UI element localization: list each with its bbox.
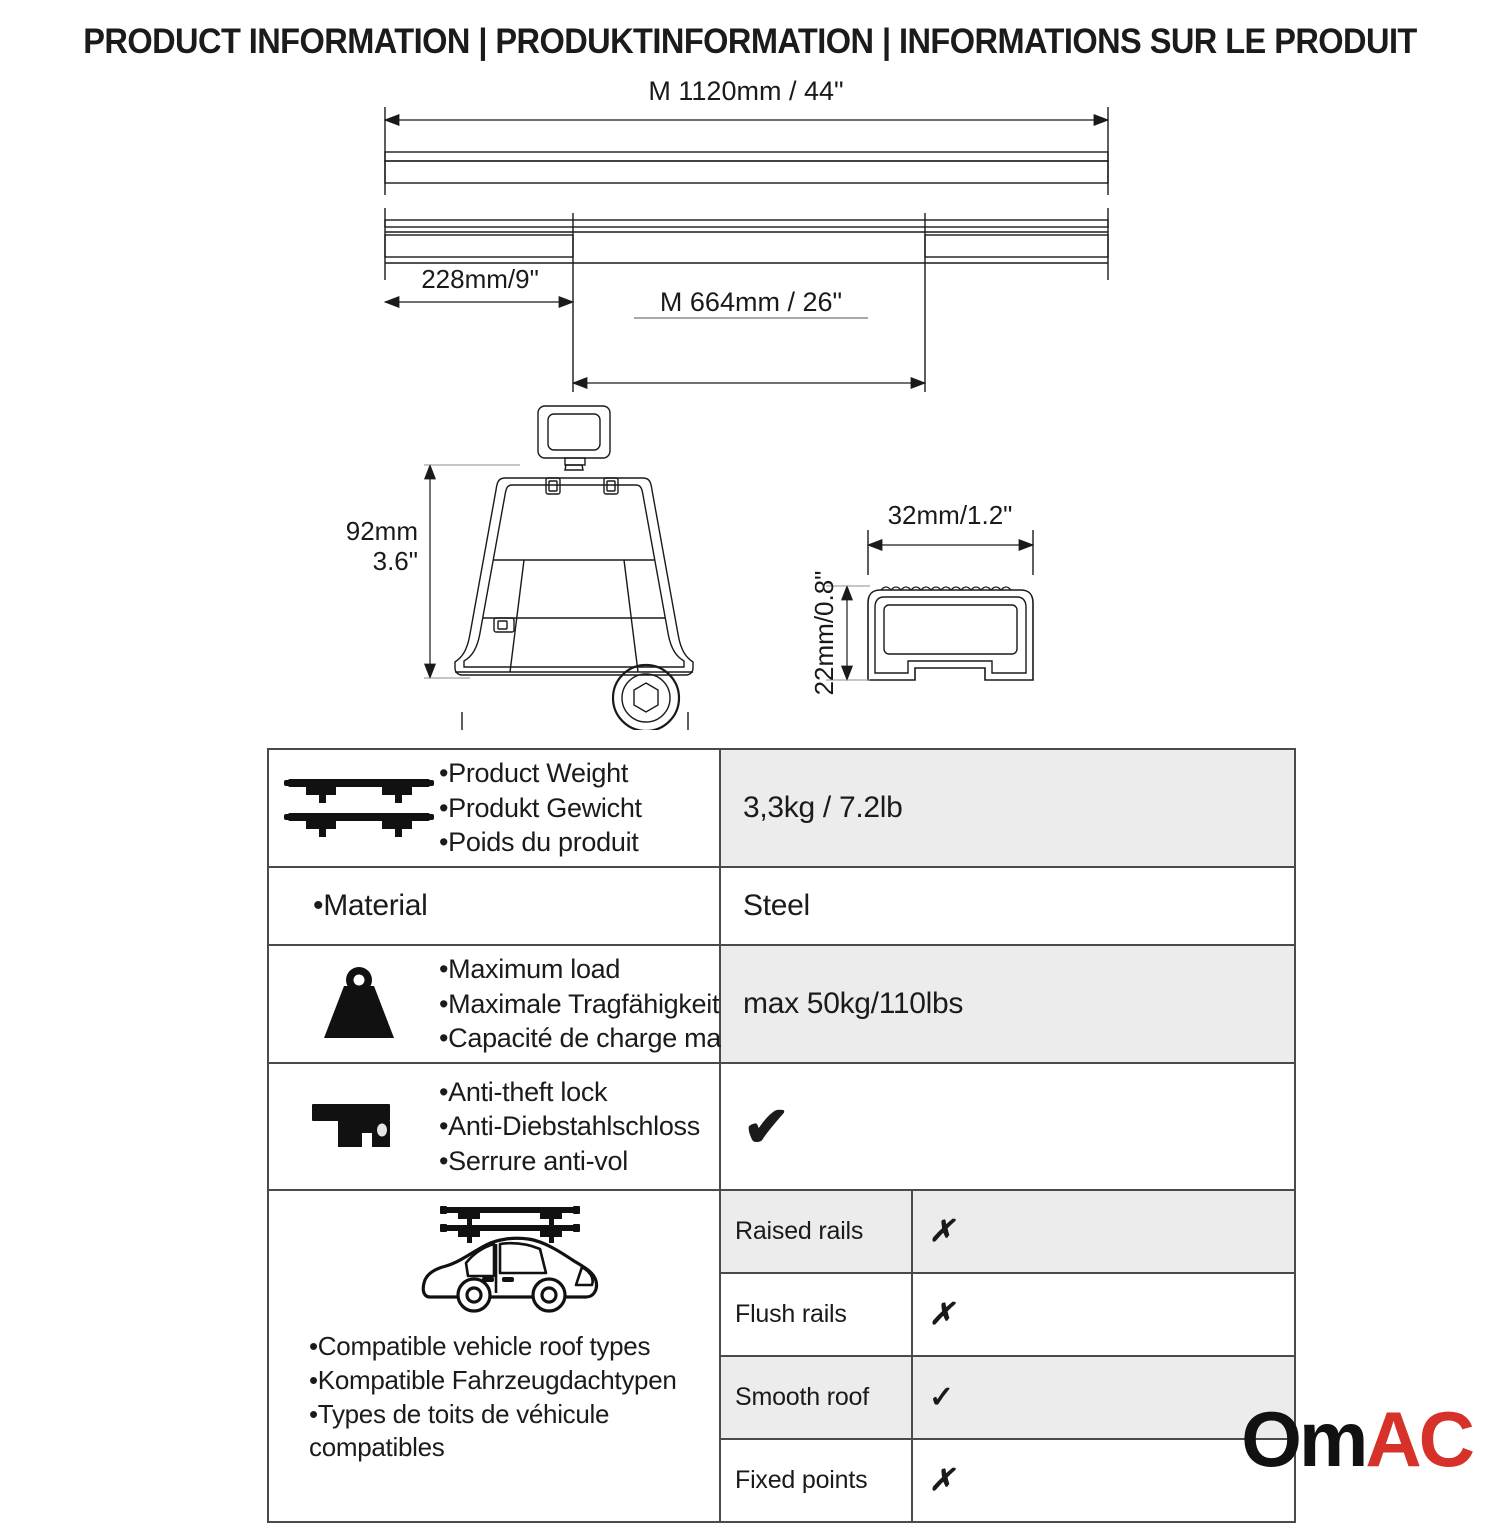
row-label-text: •Anti-theft lock •Anti-Diebstahlschloss … — [439, 1075, 700, 1179]
label-line: •Serrure anti-vol — [439, 1144, 700, 1179]
check-mark-icon: ✔ — [743, 1099, 790, 1155]
roof-option-mark: ✗ — [913, 1191, 1294, 1272]
dim-profile-height: 22mm/0.8" — [809, 571, 839, 696]
row-label-cell: •Product Weight •Produkt Gewicht •Poids … — [269, 750, 721, 866]
table-row: •Anti-theft lock •Anti-Diebstahlschloss … — [269, 1064, 1294, 1191]
weight-icon — [279, 964, 439, 1044]
material-value: Steel — [721, 868, 1294, 944]
row-label-cell: •Anti-theft lock •Anti-Diebstahlschloss … — [269, 1064, 721, 1189]
label-line: •Produkt Gewicht — [439, 791, 642, 826]
roof-option-row: Smooth roof ✓ — [721, 1357, 1294, 1440]
dim-profile-width: 32mm/1.2" — [888, 500, 1013, 530]
label-line: •Poids du produit — [439, 825, 642, 860]
dim-spread: M 664mm / 26" — [660, 287, 842, 317]
max-load-value: max 50kg/110lbs — [721, 946, 1294, 1062]
logo-text-black: Om — [1241, 1395, 1365, 1483]
logo-text-red: AC — [1365, 1395, 1472, 1483]
roof-option-name: Fixed points — [721, 1440, 913, 1521]
row-label-text: •Compatible vehicle roof types •Kompatib… — [309, 1330, 677, 1465]
table-row: •Product Weight •Produkt Gewicht •Poids … — [269, 750, 1294, 868]
row-label-cell: •Material — [269, 868, 721, 944]
row-label-cell: •Maximum load •Maximale Tragfähigkeit •C… — [269, 946, 721, 1062]
anti-theft-lock-value: ✔ — [721, 1064, 1294, 1189]
label-line: •Material — [313, 887, 428, 925]
product-weight-value: 3,3kg / 7.2lb — [721, 750, 1294, 866]
label-line: •Anti-theft lock — [439, 1075, 700, 1110]
roof-option-name: Smooth roof — [721, 1357, 913, 1438]
roof-option-row: Raised rails ✗ — [721, 1191, 1294, 1274]
label-line: •Compatible vehicle roof types — [309, 1330, 677, 1364]
page-title: PRODUCT INFORMATION | PRODUKTINFORMATION… — [53, 22, 1448, 62]
label-line: •Anti-Diebstahlschloss — [439, 1109, 700, 1144]
label-line: •Kompatible Fahrzeugdachtypen — [309, 1364, 677, 1398]
roof-option-name: Raised rails — [721, 1191, 913, 1272]
dim-end-offset: 228mm/9" — [421, 264, 539, 294]
table-row: •Maximum load •Maximale Tragfähigkeit •C… — [269, 946, 1294, 1064]
table-row: •Compatible vehicle roof types •Kompatib… — [269, 1191, 1294, 1521]
car-with-rack-icon — [416, 1201, 606, 1324]
technical-drawing: M 1120mm / 44" 228mm/9" M 664mm / 26" 92… — [0, 80, 1500, 730]
label-line: •Types de toits de véhicule — [309, 1398, 677, 1432]
roof-option-row: Fixed points ✗ — [721, 1440, 1294, 1521]
lock-icon — [279, 1094, 439, 1160]
roof-option-mark: ✗ — [913, 1274, 1294, 1355]
omac-logo: OmAC — [1241, 1400, 1472, 1478]
label-line: •Product Weight — [439, 756, 642, 791]
label-line: compatibles — [309, 1431, 677, 1465]
roof-option-mark: ✗ — [913, 1440, 1294, 1521]
row-label-text: •Product Weight •Produkt Gewicht •Poids … — [439, 756, 642, 860]
dim-foot-height-mm: 92mm — [346, 516, 418, 546]
table-row: •Material Steel — [269, 868, 1294, 946]
roof-option-mark: ✓ — [913, 1357, 1294, 1438]
roof-option-row: Flush rails ✗ — [721, 1274, 1294, 1357]
row-label-text: •Material — [313, 887, 428, 925]
dim-foot-height-in: 3.6" — [373, 546, 418, 576]
dim-bar-length: M 1120mm / 44" — [648, 80, 843, 106]
roof-option-name: Flush rails — [721, 1274, 913, 1355]
roof-types-label-cell: •Compatible vehicle roof types •Kompatib… — [269, 1191, 721, 1521]
roof-types-options: Raised rails ✗ Flush rails ✗ Smooth roof… — [721, 1191, 1294, 1521]
specification-table: •Product Weight •Produkt Gewicht •Poids … — [267, 748, 1296, 1523]
roof-bars-icon — [279, 773, 439, 843]
